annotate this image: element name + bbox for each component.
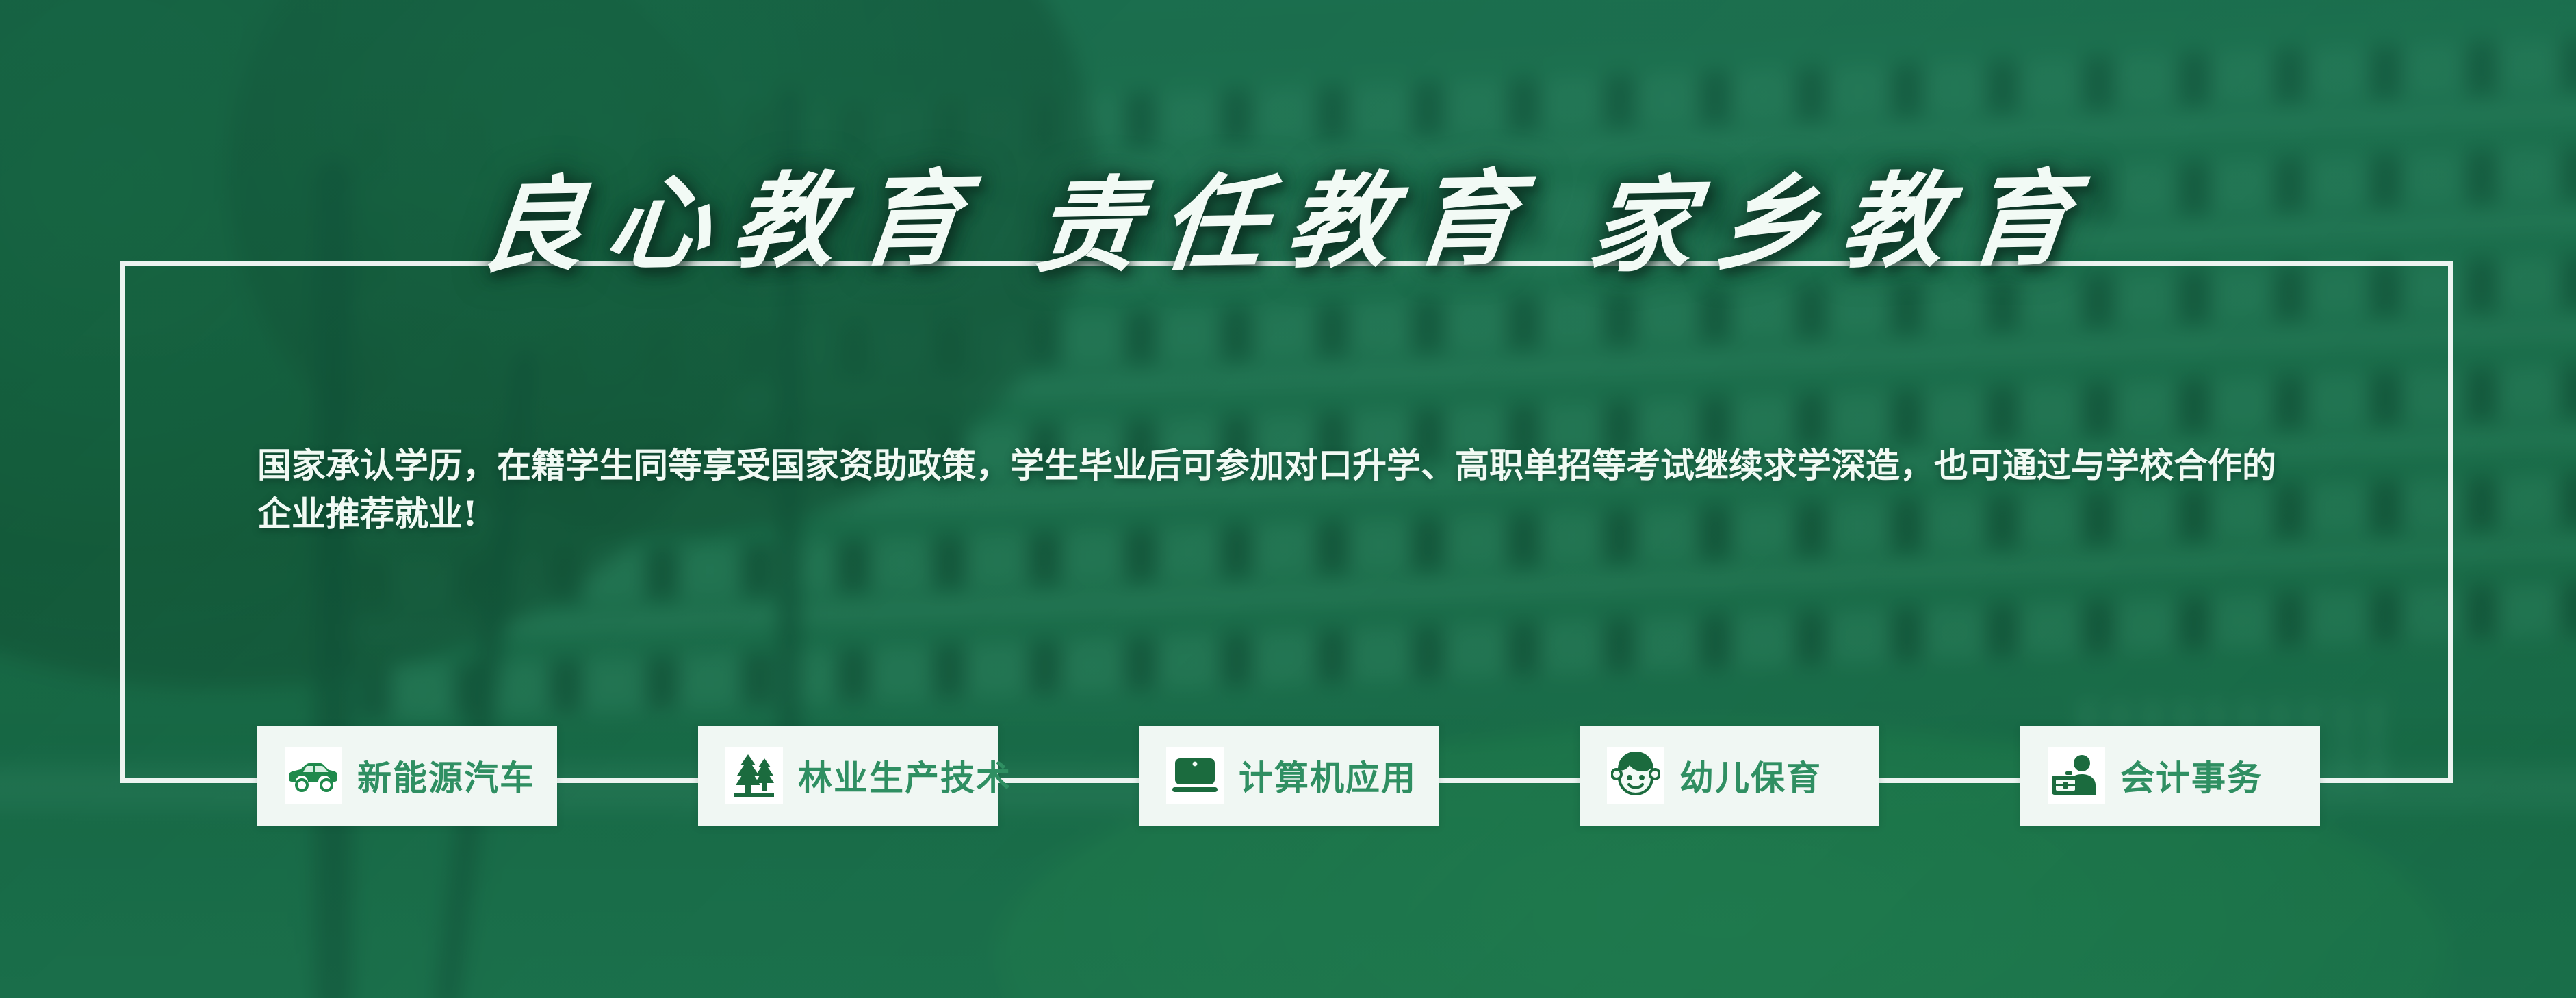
- forest-trees-icon: [725, 747, 783, 804]
- program-card-early-childhood-care[interactable]: 幼儿保育: [1580, 726, 1879, 826]
- program-card-accounting-affairs[interactable]: 会计事务: [2020, 726, 2320, 826]
- headline: 良心教育 责任教育 家乡教育: [0, 171, 2576, 274]
- program-card-label: 幼儿保育: [1679, 751, 1822, 800]
- campus-promo-banner: 良心教育 责任教育 家乡教育 国家承认学历，在籍学生同等享受国家资助政策，学生毕…: [0, 0, 2576, 998]
- program-card-computer-application[interactable]: 计算机应用: [1139, 726, 1439, 826]
- headline-phrase-1: 良心教育: [476, 167, 991, 279]
- program-card-label: 会计事务: [2120, 751, 2263, 800]
- program-card-label: 计算机应用: [1239, 751, 1417, 800]
- program-card-label: 林业生产技术: [798, 751, 1012, 800]
- program-card-forestry-production-technology[interactable]: 林业生产技术: [698, 726, 998, 826]
- program-card-label: 新能源汽车: [357, 751, 535, 800]
- lead-paragraph: 国家承认学历，在籍学生同等享受国家资助政策，学生毕业后可参加对口升学、高职单招等…: [257, 441, 2283, 538]
- laptop-icon: [1166, 747, 1224, 804]
- child-face-icon: [1607, 747, 1664, 804]
- program-card-list: 新能源汽车 林业生产技术 计: [0, 726, 2576, 828]
- accountant-briefcase-icon: [2048, 747, 2105, 804]
- program-card-new-energy-vehicles[interactable]: 新能源汽车: [257, 726, 557, 826]
- headline-phrase-2: 责任教育: [1030, 167, 1545, 279]
- car-icon: [285, 747, 342, 804]
- headline-phrase-3: 家乡教育: [1585, 167, 2100, 279]
